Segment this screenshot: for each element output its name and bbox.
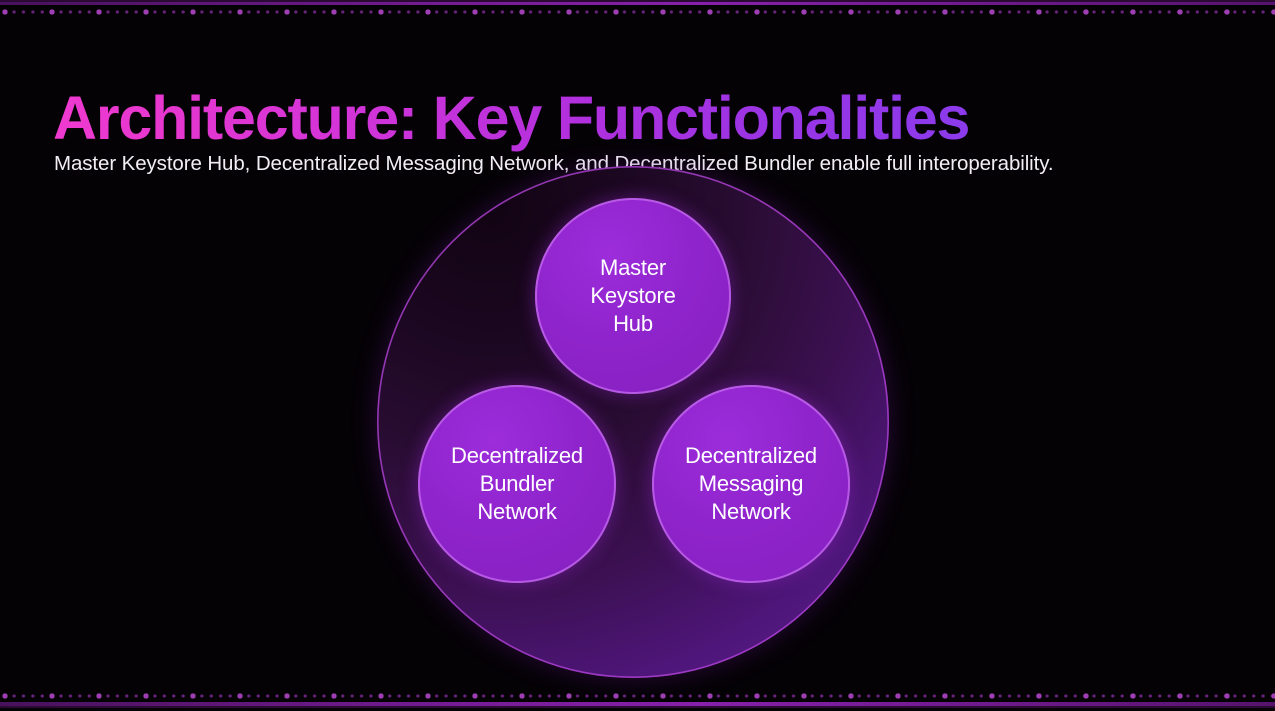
top-dot-pattern: [0, 7, 1275, 17]
architecture-diagram: Master Keystore Hub Decentralized Bundle…: [377, 166, 889, 678]
top-rule-accent: [0, 2, 1275, 5]
bottom-rule-dark: [0, 706, 1275, 708]
node-decentralized-messaging-network[interactable]: Decentralized Messaging Network: [652, 385, 850, 583]
node-label: Decentralized Messaging Network: [679, 442, 823, 526]
node-label: Decentralized Bundler Network: [445, 442, 589, 526]
node-master-keystore-hub[interactable]: Master Keystore Hub: [535, 198, 731, 394]
node-label: Master Keystore Hub: [584, 254, 681, 338]
bottom-dot-pattern: [0, 691, 1275, 701]
node-decentralized-bundler-network[interactable]: Decentralized Bundler Network: [418, 385, 616, 583]
page-title: Architecture: Key Functionalities: [53, 83, 969, 153]
slide-canvas: Architecture: Key Functionalities Master…: [0, 0, 1275, 711]
